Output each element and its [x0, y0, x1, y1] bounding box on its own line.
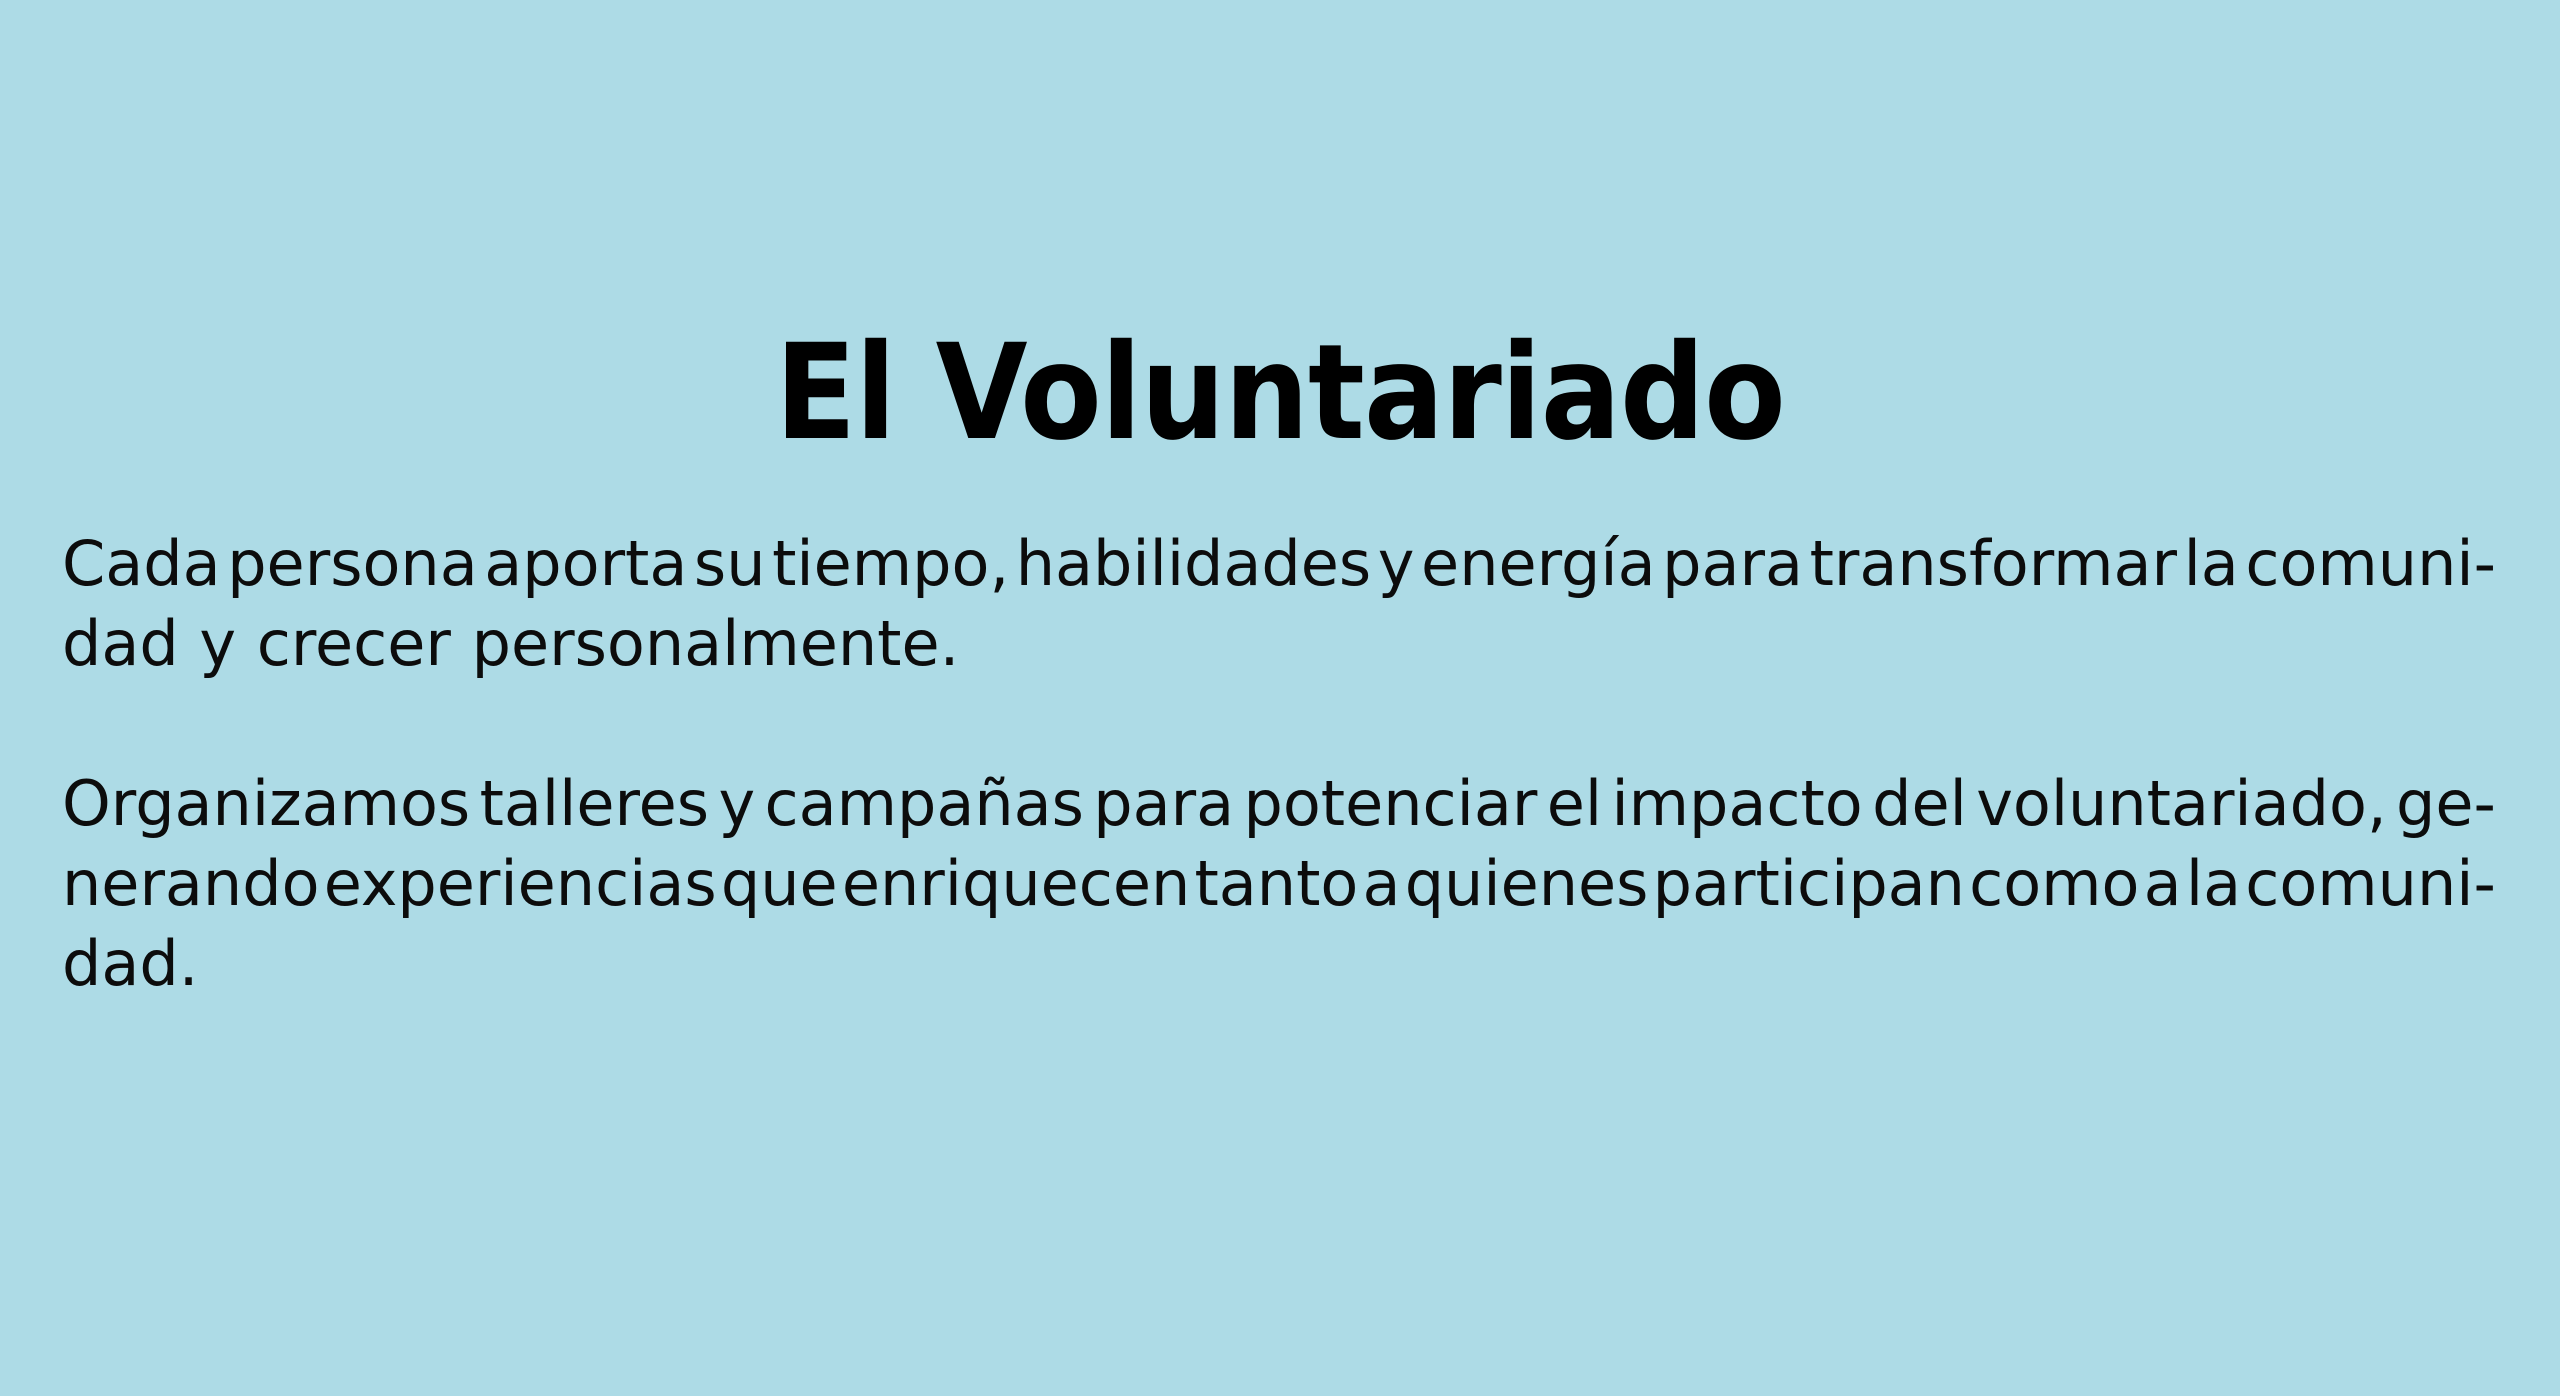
word: tiempo,	[772, 524, 1009, 604]
word: participan	[1653, 844, 1965, 924]
word: potenciar	[1244, 764, 1538, 844]
paragraph-2-line-3: dad.	[62, 924, 2496, 1004]
word: aporta	[484, 524, 687, 604]
word: impacto	[1611, 764, 1862, 844]
word: comuni-	[2245, 844, 2496, 924]
word: que	[721, 844, 838, 924]
word: a	[1363, 844, 1401, 924]
word: Cada	[62, 524, 221, 604]
word: del	[1872, 764, 1967, 844]
word: habilidades	[1016, 524, 1371, 604]
page-title-container: El Voluntariado	[0, 318, 2560, 468]
word: para	[1662, 524, 1803, 604]
word: Organizamos	[62, 764, 470, 844]
word: talleres	[480, 764, 709, 844]
word: su	[694, 524, 766, 604]
word: nerando	[62, 844, 320, 924]
paragraph-1-line-1: Cada persona aporta su tiempo, habilidad…	[62, 524, 2496, 604]
word: y	[718, 764, 755, 844]
word: el	[1547, 764, 1602, 844]
word: tanto	[1195, 844, 1359, 924]
word: y	[1378, 524, 1415, 604]
paragraph-2-line-1: Organizamos talleres y campañas para pot…	[62, 764, 2496, 844]
slide-canvas: El Voluntariado Cada persona aporta su t…	[0, 0, 2560, 1396]
word: ge-	[2396, 764, 2496, 844]
word: voluntariado,	[1976, 764, 2386, 844]
word: para	[1093, 764, 1234, 844]
word: comuni-	[2245, 524, 2496, 604]
word: a	[2144, 844, 2182, 924]
word: la	[2184, 524, 2239, 604]
paragraph-2: Organizamos talleres y campañas para pot…	[62, 764, 2496, 1004]
word: como	[1969, 844, 2139, 924]
word: transformar	[1810, 524, 2177, 604]
body-content: Cada persona aporta su tiempo, habilidad…	[62, 524, 2496, 1004]
word: quienes	[1405, 844, 1649, 924]
word: campañas	[765, 764, 1084, 844]
word: experiencias	[324, 844, 717, 924]
word: enriquecen	[842, 844, 1190, 924]
paragraph-2-line-2: nerando experiencias que enriquecen tant…	[62, 844, 2496, 924]
word: la	[2186, 844, 2241, 924]
paragraph-1: Cada persona aporta su tiempo, habilidad…	[62, 524, 2496, 684]
word: persona	[227, 524, 478, 604]
page-title: El Voluntariado	[775, 318, 1785, 468]
word: energía	[1421, 524, 1656, 604]
paragraph-1-line-2: dad y crecer personalmente.	[62, 604, 2496, 684]
